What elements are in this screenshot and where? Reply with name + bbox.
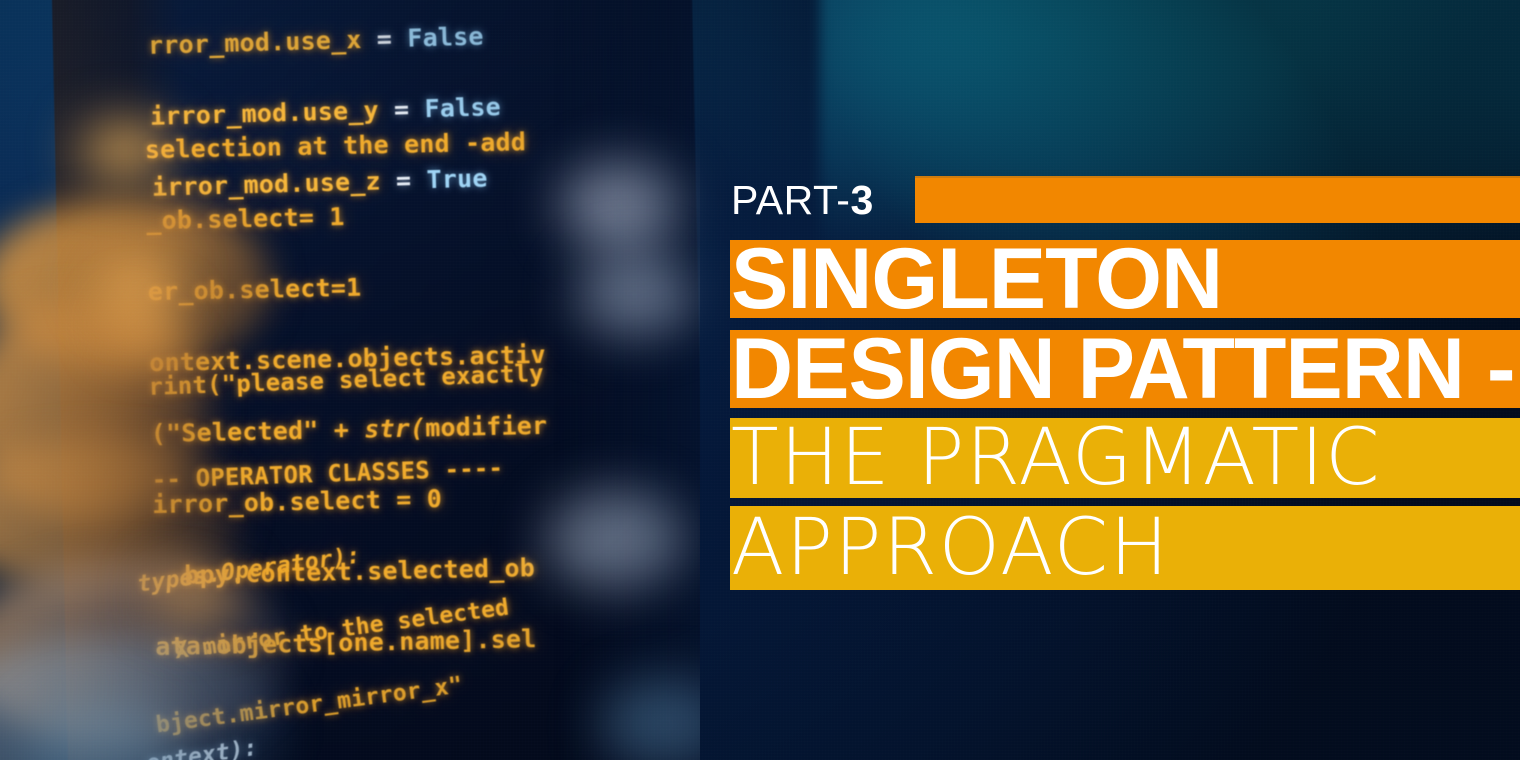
- title-block: PART-3 SINGLETON DESIGN PATTERN - THE PR…: [0, 0, 1520, 760]
- eyebrow-number: 3: [850, 177, 873, 223]
- title-line-4: APPROACH: [731, 500, 1170, 596]
- title-line-2: DESIGN PATTERN -: [731, 318, 1515, 420]
- eyebrow-label: PART-3: [731, 176, 931, 224]
- eyebrow-band: [915, 178, 1520, 223]
- banner-root: rror_mod.use_x = False irror_mod.use_y =…: [0, 0, 1520, 760]
- eyebrow-prefix: PART-: [731, 177, 850, 223]
- title-line-1: SINGLETON: [731, 228, 1222, 330]
- title-line-3: THE PRAGMATIC: [731, 412, 1381, 504]
